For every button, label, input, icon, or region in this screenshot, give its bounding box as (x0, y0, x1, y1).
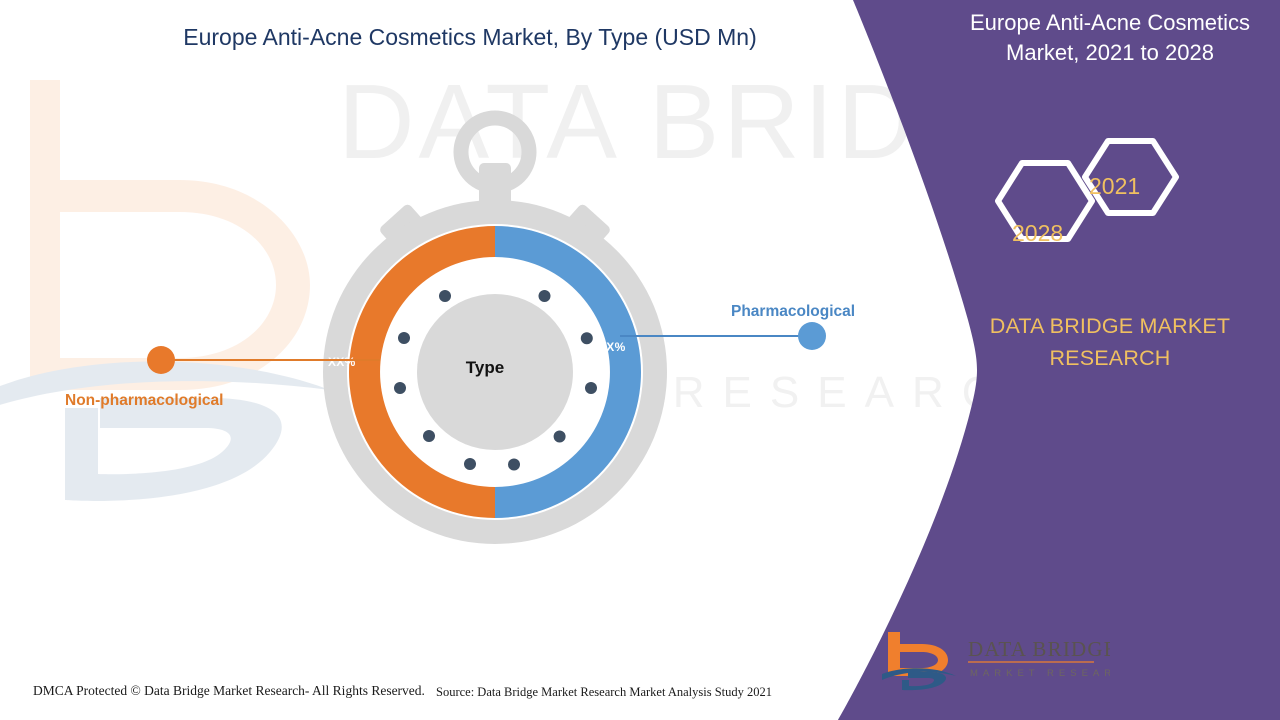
chart-title: Europe Anti-Acne Cosmetics Market, By Ty… (160, 24, 780, 51)
callout-label-pharmacological: Pharmacological (731, 303, 855, 321)
panel-content: Europe Anti-Acne Cosmetics Market, 2021 … (950, 0, 1280, 720)
callout-line-non-pharmacological (60, 330, 380, 430)
brand-name: DATA BRIDGE MARKET RESEARCH (950, 310, 1270, 374)
footer-source-note: Source: Data Bridge Market Research Mark… (436, 685, 772, 700)
logo-secondary-text: MARKET RESEARCH (970, 668, 1110, 679)
callout-dot-non-pharmacological (147, 346, 175, 374)
hexagon-2028-label: 2028 (1012, 220, 1063, 247)
callout-label-non-pharmacological: Non-pharmacological (65, 392, 223, 410)
hexagon-badges (980, 135, 1230, 275)
panel-title: Europe Anti-Acne Cosmetics Market, 2021 … (950, 8, 1270, 68)
callout-dot-pharmacological (798, 322, 826, 350)
donut-center-label: Type (405, 358, 565, 378)
hexagon-2021-label: 2021 (1089, 173, 1140, 200)
data-bridge-logo-icon: DATA BRIDGE MARKET RESEARCH (880, 628, 1110, 692)
logo-primary-text: DATA BRIDGE (968, 637, 1110, 661)
footer-dmca-notice: DMCA Protected © Data Bridge Market Rese… (33, 683, 425, 699)
infographic-canvas: DATA BRIDGE MARKET RESEARCH Europe Anti-… (0, 0, 1280, 720)
